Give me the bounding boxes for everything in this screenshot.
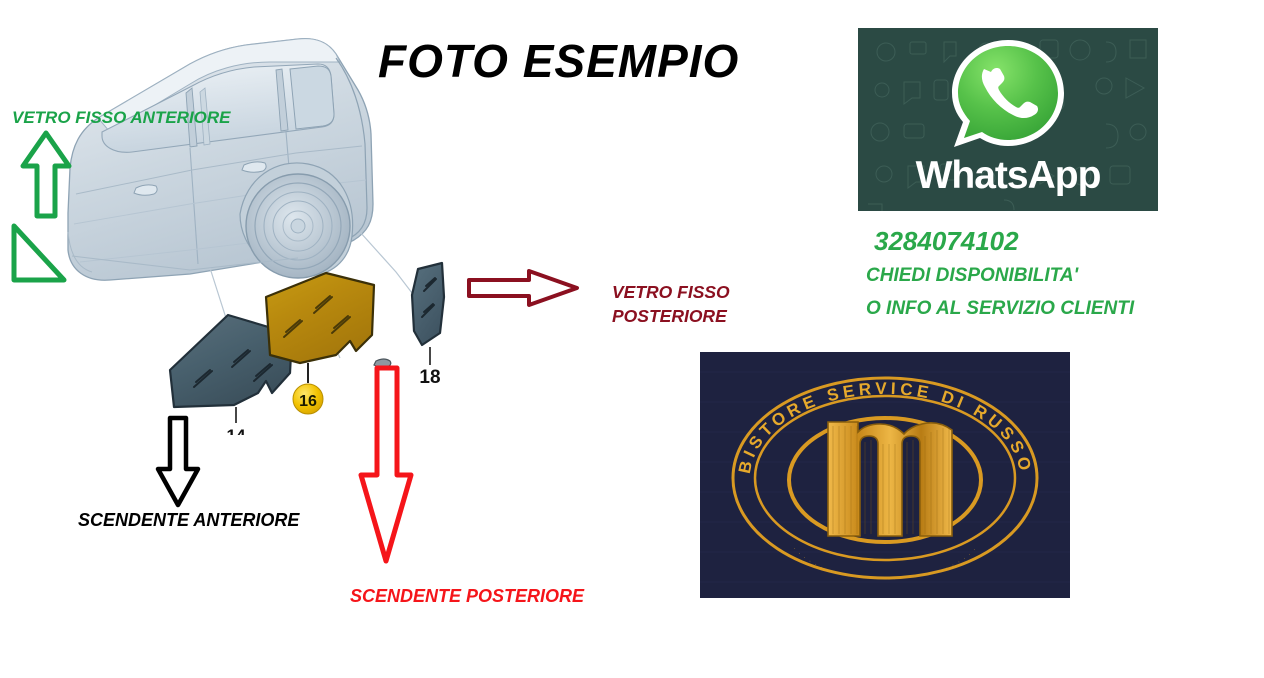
whatsapp-phone-number[interactable]: 3284074102 xyxy=(874,226,1019,257)
callout-vfp-line1: VETRO FISSO xyxy=(612,281,730,305)
svg-text:14: 14 xyxy=(227,426,246,435)
whatsapp-logo-icon xyxy=(938,34,1078,159)
callout-scendente-anteriore: SCENDENTE ANTERIORE xyxy=(78,510,299,531)
shop-logo-monogram xyxy=(828,422,952,536)
arrow-down-red-icon xyxy=(355,365,415,570)
shop-logo-image: MRICAMBISTORE SERVICE DI RUSSO MARCO xyxy=(700,352,1070,598)
callout-vetro-fisso-anteriore: VETRO FISSO ANTERIORE xyxy=(12,108,231,128)
svg-text:18: 18 xyxy=(419,367,440,388)
whatsapp-badge[interactable]: WhatsApp xyxy=(858,28,1158,211)
callout-vetro-fisso-posteriore: VETRO FISSO POSTERIORE xyxy=(612,281,730,328)
whatsapp-note-line2: O INFO AL SERVIZIO CLIENTI xyxy=(866,298,1134,320)
arrow-down-black-icon xyxy=(155,415,201,514)
callout-vfp-line2: POSTERIORE xyxy=(612,305,730,329)
arrow-right-darkred-icon xyxy=(466,268,580,313)
part-18-shape xyxy=(412,263,444,345)
triangle-green-icon xyxy=(8,222,70,291)
callout-scendente-posteriore: SCENDENTE POSTERIORE xyxy=(350,586,584,607)
part-16-shape xyxy=(266,273,374,363)
whatsapp-wordmark: WhatsApp xyxy=(858,154,1158,198)
poster-canvas: FOTO ESEMPIO xyxy=(0,0,1264,678)
arrow-up-green-icon xyxy=(20,130,72,225)
whatsapp-note-line1: CHIEDI DISPONIBILITA' xyxy=(866,265,1078,287)
svg-text:16: 16 xyxy=(299,393,317,410)
exploded-glass-parts: 14 16 17 xyxy=(150,255,470,435)
